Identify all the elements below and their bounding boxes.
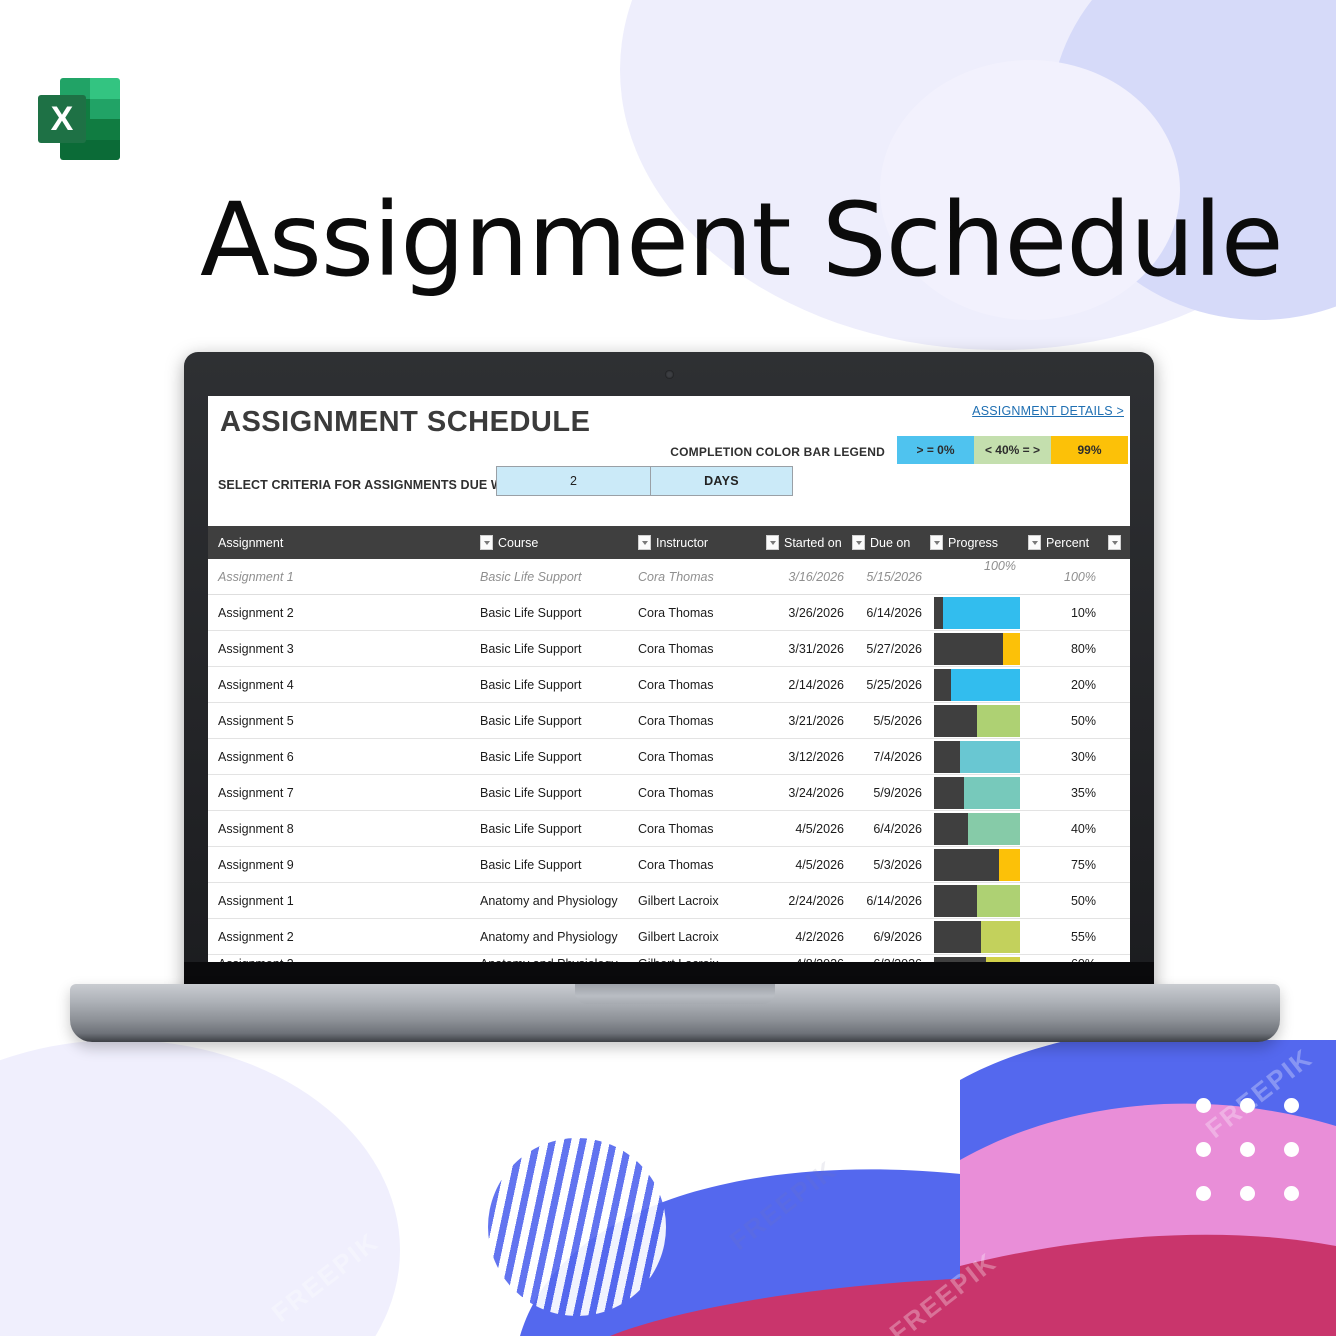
cell-instructor: Cora Thomas xyxy=(638,750,766,764)
table-row[interactable]: Assignment 8Basic Life SupportCora Thoma… xyxy=(208,811,1130,847)
cell-started-on: 3/12/2026 xyxy=(766,750,852,764)
cell-started-on: 3/31/2026 xyxy=(766,642,852,656)
cell-percent: 55% xyxy=(1028,930,1108,944)
cell-assignment: Assignment 9 xyxy=(208,858,480,872)
cell-assignment: Assignment 5 xyxy=(208,714,480,728)
filter-dropdown-icon[interactable] xyxy=(638,535,651,550)
column-header-assignment: Assignment xyxy=(208,526,480,559)
table-row[interactable]: Assignment 2Basic Life SupportCora Thoma… xyxy=(208,595,1130,631)
cell-instructor: Cora Thomas xyxy=(638,642,766,656)
spreadsheet-app: ASSIGNMENT SCHEDULE ASSIGNMENT DETAILS >… xyxy=(208,396,1130,962)
laptop-base-notch xyxy=(575,984,775,1004)
progress-bar-track xyxy=(934,597,1020,629)
cell-assignment: Assignment 2 xyxy=(208,606,480,620)
table-row[interactable]: Assignment 3Anatomy and PhysiologyGilber… xyxy=(208,955,1130,962)
cell-assignment: Assignment 1 xyxy=(208,894,480,908)
progress-bar-track xyxy=(934,921,1020,953)
cell-due-on: 5/9/2026 xyxy=(852,786,930,800)
wave-pink xyxy=(960,1104,1336,1322)
cell-instructor: Cora Thomas xyxy=(638,570,766,584)
table-row[interactable]: Assignment 6Basic Life SupportCora Thoma… xyxy=(208,739,1130,775)
table-row[interactable]: Assignment 4Basic Life SupportCora Thoma… xyxy=(208,667,1130,703)
cell-assignment: Assignment 1 xyxy=(208,570,480,584)
column-header-progress: Progress xyxy=(930,526,1028,559)
cell-percent: 30% xyxy=(1028,750,1108,764)
laptop-screen: ASSIGNMENT SCHEDULE ASSIGNMENT DETAILS >… xyxy=(208,396,1130,962)
cell-percent: 75% xyxy=(1028,858,1108,872)
table-body: Assignment 1Basic Life SupportCora Thoma… xyxy=(208,559,1130,962)
wave-blue-upper xyxy=(960,1040,1336,1200)
progress-bar-fill xyxy=(934,813,968,845)
table-row[interactable]: Assignment 5Basic Life SupportCora Thoma… xyxy=(208,703,1130,739)
cell-percent: 10% xyxy=(1028,606,1108,620)
progress-bar-fill xyxy=(934,597,943,629)
cell-progress-bar xyxy=(930,703,1028,738)
cell-course: Basic Life Support xyxy=(480,570,638,584)
cell-started-on: 2/24/2026 xyxy=(766,894,852,908)
progress-bar-track xyxy=(934,669,1020,701)
filter-dropdown-icon[interactable] xyxy=(1108,535,1121,550)
filter-dropdown-icon[interactable] xyxy=(930,535,943,550)
cell-course: Anatomy and Physiology xyxy=(480,894,638,908)
cell-started-on: 3/21/2026 xyxy=(766,714,852,728)
cell-progress-bar: 100% xyxy=(930,559,1028,594)
legend-swatch-mid: < 40% = > xyxy=(974,436,1051,464)
column-header-started-label: Started on xyxy=(784,536,842,550)
cell-course: Basic Life Support xyxy=(480,714,638,728)
excel-icon-letter: X xyxy=(38,95,86,143)
assignments-table: Assignment Course Instructor xyxy=(208,526,1130,962)
cell-due-on: 6/14/2026 xyxy=(852,894,930,908)
cell-percent: 100% xyxy=(1028,570,1108,584)
cell-started-on: 3/26/2026 xyxy=(766,606,852,620)
cell-course: Basic Life Support xyxy=(480,606,638,620)
cell-due-on: 5/25/2026 xyxy=(852,678,930,692)
cell-started-on: 4/2/2026 xyxy=(766,930,852,944)
spreadsheet-header: ASSIGNMENT SCHEDULE ASSIGNMENT DETAILS >… xyxy=(208,396,1130,526)
watermark: FREEPIK xyxy=(1200,1042,1319,1144)
filter-dropdown-icon[interactable] xyxy=(852,535,865,550)
column-header-progress-label: Progress xyxy=(948,536,998,550)
cell-due-on: 5/27/2026 xyxy=(852,642,930,656)
watermark: FREEPIK xyxy=(884,1246,1003,1336)
table-row[interactable]: Assignment 1Basic Life SupportCora Thoma… xyxy=(208,559,1130,595)
laptop-mockup: ASSIGNMENT SCHEDULE ASSIGNMENT DETAILS >… xyxy=(70,352,1280,1042)
cell-due-on: 7/4/2026 xyxy=(852,750,930,764)
column-header-percent-label: Percent xyxy=(1046,536,1089,550)
progress-bar-fill xyxy=(934,885,977,917)
table-row[interactable]: Assignment 2Anatomy and PhysiologyGilber… xyxy=(208,919,1130,955)
progress-bar-fill xyxy=(934,777,964,809)
cell-assignment: Assignment 3 xyxy=(208,642,480,656)
cell-progress-bar xyxy=(930,883,1028,918)
legend-swatch-low: > = 0% xyxy=(897,436,974,464)
progress-bar-fill xyxy=(934,705,977,737)
cell-assignment: Assignment 4 xyxy=(208,678,480,692)
column-header-instructor: Instructor xyxy=(638,526,766,559)
progress-bar-track xyxy=(934,813,1020,845)
cell-instructor: Cora Thomas xyxy=(638,786,766,800)
criteria-unit-select[interactable]: DAYS xyxy=(651,466,793,496)
table-row[interactable]: Assignment 3Basic Life SupportCora Thoma… xyxy=(208,631,1130,667)
progress-bar-fill xyxy=(934,741,960,773)
column-header-percent: Percent xyxy=(1028,526,1108,559)
cell-started-on: 3/24/2026 xyxy=(766,786,852,800)
cell-due-on: 6/14/2026 xyxy=(852,606,930,620)
cell-started-on: 4/5/2026 xyxy=(766,822,852,836)
cell-instructor: Cora Thomas xyxy=(638,606,766,620)
wave-blue xyxy=(520,1074,1336,1336)
webcam-icon xyxy=(665,370,674,379)
cell-instructor: Gilbert Lacroix xyxy=(638,894,766,908)
wave-crimson xyxy=(610,1277,1336,1336)
laptop-lid: ASSIGNMENT SCHEDULE ASSIGNMENT DETAILS >… xyxy=(184,352,1154,1000)
progress-bar-track xyxy=(934,741,1020,773)
cell-instructor: Gilbert Lacroix xyxy=(638,930,766,944)
cell-course: Basic Life Support xyxy=(480,678,638,692)
cell-percent: 35% xyxy=(1028,786,1108,800)
legend-swatch-high: 99% xyxy=(1051,436,1128,464)
progress-bar-track xyxy=(934,777,1020,809)
page-title: Assignment Schedule xyxy=(200,186,1180,296)
filter-dropdown-icon[interactable] xyxy=(766,535,779,550)
spreadsheet-title: ASSIGNMENT SCHEDULE xyxy=(220,406,590,439)
column-header-due-on: Due on xyxy=(852,526,930,559)
progress-bar-track xyxy=(934,705,1020,737)
assignment-details-link[interactable]: ASSIGNMENT DETAILS > xyxy=(972,404,1124,418)
cell-course: Basic Life Support xyxy=(480,786,638,800)
cell-progress-bar xyxy=(930,811,1028,846)
column-header-course-label: Course xyxy=(498,536,538,550)
cell-percent: 50% xyxy=(1028,714,1108,728)
cell-started-on: 2/14/2026 xyxy=(766,678,852,692)
cell-progress-bar xyxy=(930,775,1028,810)
column-header-instructor-label: Instructor xyxy=(656,536,708,550)
excel-icon: X xyxy=(38,78,120,160)
bg-wave-group xyxy=(0,1000,1336,1336)
bg-blob-bottom-left xyxy=(0,1090,370,1336)
table-row[interactable]: Assignment 9Basic Life SupportCora Thoma… xyxy=(208,847,1130,883)
column-header-overflow xyxy=(1108,526,1130,559)
cell-instructor: Cora Thomas xyxy=(638,678,766,692)
cell-progress-bar xyxy=(930,667,1028,702)
cell-percent: 50% xyxy=(1028,894,1108,908)
cell-progress-bar xyxy=(930,919,1028,954)
laptop-bezel-top xyxy=(184,352,1154,396)
progress-bar-fill xyxy=(934,849,999,881)
column-header-due-label: Due on xyxy=(870,536,910,550)
watermark: FREEPIK xyxy=(724,1154,843,1256)
table-row[interactable]: Assignment 1Anatomy and PhysiologyGilber… xyxy=(208,883,1130,919)
cell-progress-bar xyxy=(930,955,1028,962)
cell-progress-bar xyxy=(930,595,1028,630)
cell-course: Anatomy and Physiology xyxy=(480,930,638,944)
criteria-label: SELECT CRITERIA FOR ASSIGNMENTS DUE WITH… xyxy=(218,478,540,492)
cell-course: Basic Life Support xyxy=(480,642,638,656)
column-header-course: Course xyxy=(480,526,638,559)
bg-blob-bottom-left-pale xyxy=(0,1040,400,1336)
watermark: FREEPIK xyxy=(266,1226,385,1328)
cell-due-on: 5/3/2026 xyxy=(852,858,930,872)
cell-assignment: Assignment 6 xyxy=(208,750,480,764)
progress-bar-fill xyxy=(934,669,951,701)
legend-label: COMPLETION COLOR BAR LEGEND xyxy=(670,445,885,459)
cell-progress-bar xyxy=(930,847,1028,882)
filter-dropdown-icon[interactable] xyxy=(1028,535,1041,550)
cell-assignment: Assignment 7 xyxy=(208,786,480,800)
column-header-started-on: Started on xyxy=(766,526,852,559)
progress-bar-fill xyxy=(934,921,981,953)
cell-assignment: Assignment 2 xyxy=(208,930,480,944)
table-header-row: Assignment Course Instructor xyxy=(208,526,1130,559)
progress-bar-track xyxy=(934,633,1020,665)
cell-percent: 20% xyxy=(1028,678,1108,692)
cell-started-on: 3/16/2026 xyxy=(766,570,852,584)
cell-due-on: 6/4/2026 xyxy=(852,822,930,836)
cell-progress-bar xyxy=(930,631,1028,666)
cell-course: Basic Life Support xyxy=(480,858,638,872)
cell-due-on: 5/5/2026 xyxy=(852,714,930,728)
cell-percent: 40% xyxy=(1028,822,1108,836)
table-row[interactable]: Assignment 7Basic Life SupportCora Thoma… xyxy=(208,775,1130,811)
cell-due-on: 6/9/2026 xyxy=(852,930,930,944)
cell-instructor: Cora Thomas xyxy=(638,858,766,872)
cell-course: Basic Life Support xyxy=(480,750,638,764)
screenshot-canvas: FREEPIK FREEPIK FREEPIK FREEPIK X Assign… xyxy=(0,0,1336,1336)
striped-circle-decoration xyxy=(488,1138,666,1316)
wave-pink-right xyxy=(980,1232,1336,1336)
wave-crimson-lower xyxy=(960,1235,1336,1336)
filter-dropdown-icon[interactable] xyxy=(480,535,493,550)
cell-due-on: 5/15/2026 xyxy=(852,570,930,584)
progress-bar-track xyxy=(934,885,1020,917)
progress-bar-fill xyxy=(934,633,1003,665)
laptop-base xyxy=(70,984,1280,1042)
cell-assignment: Assignment 8 xyxy=(208,822,480,836)
criteria-days-input[interactable]: 2 xyxy=(496,466,651,496)
progress-bar-track xyxy=(934,849,1020,881)
cell-course: Basic Life Support xyxy=(480,822,638,836)
bg-wave-right-group xyxy=(960,1040,1336,1336)
completion-color-legend: > = 0% < 40% = > 99% xyxy=(897,436,1128,464)
cell-instructor: Cora Thomas xyxy=(638,714,766,728)
cell-progress-bar xyxy=(930,739,1028,774)
cell-started-on: 4/5/2026 xyxy=(766,858,852,872)
cell-instructor: Cora Thomas xyxy=(638,822,766,836)
criteria-inputs: 2 DAYS xyxy=(496,466,793,496)
cell-percent: 80% xyxy=(1028,642,1108,656)
